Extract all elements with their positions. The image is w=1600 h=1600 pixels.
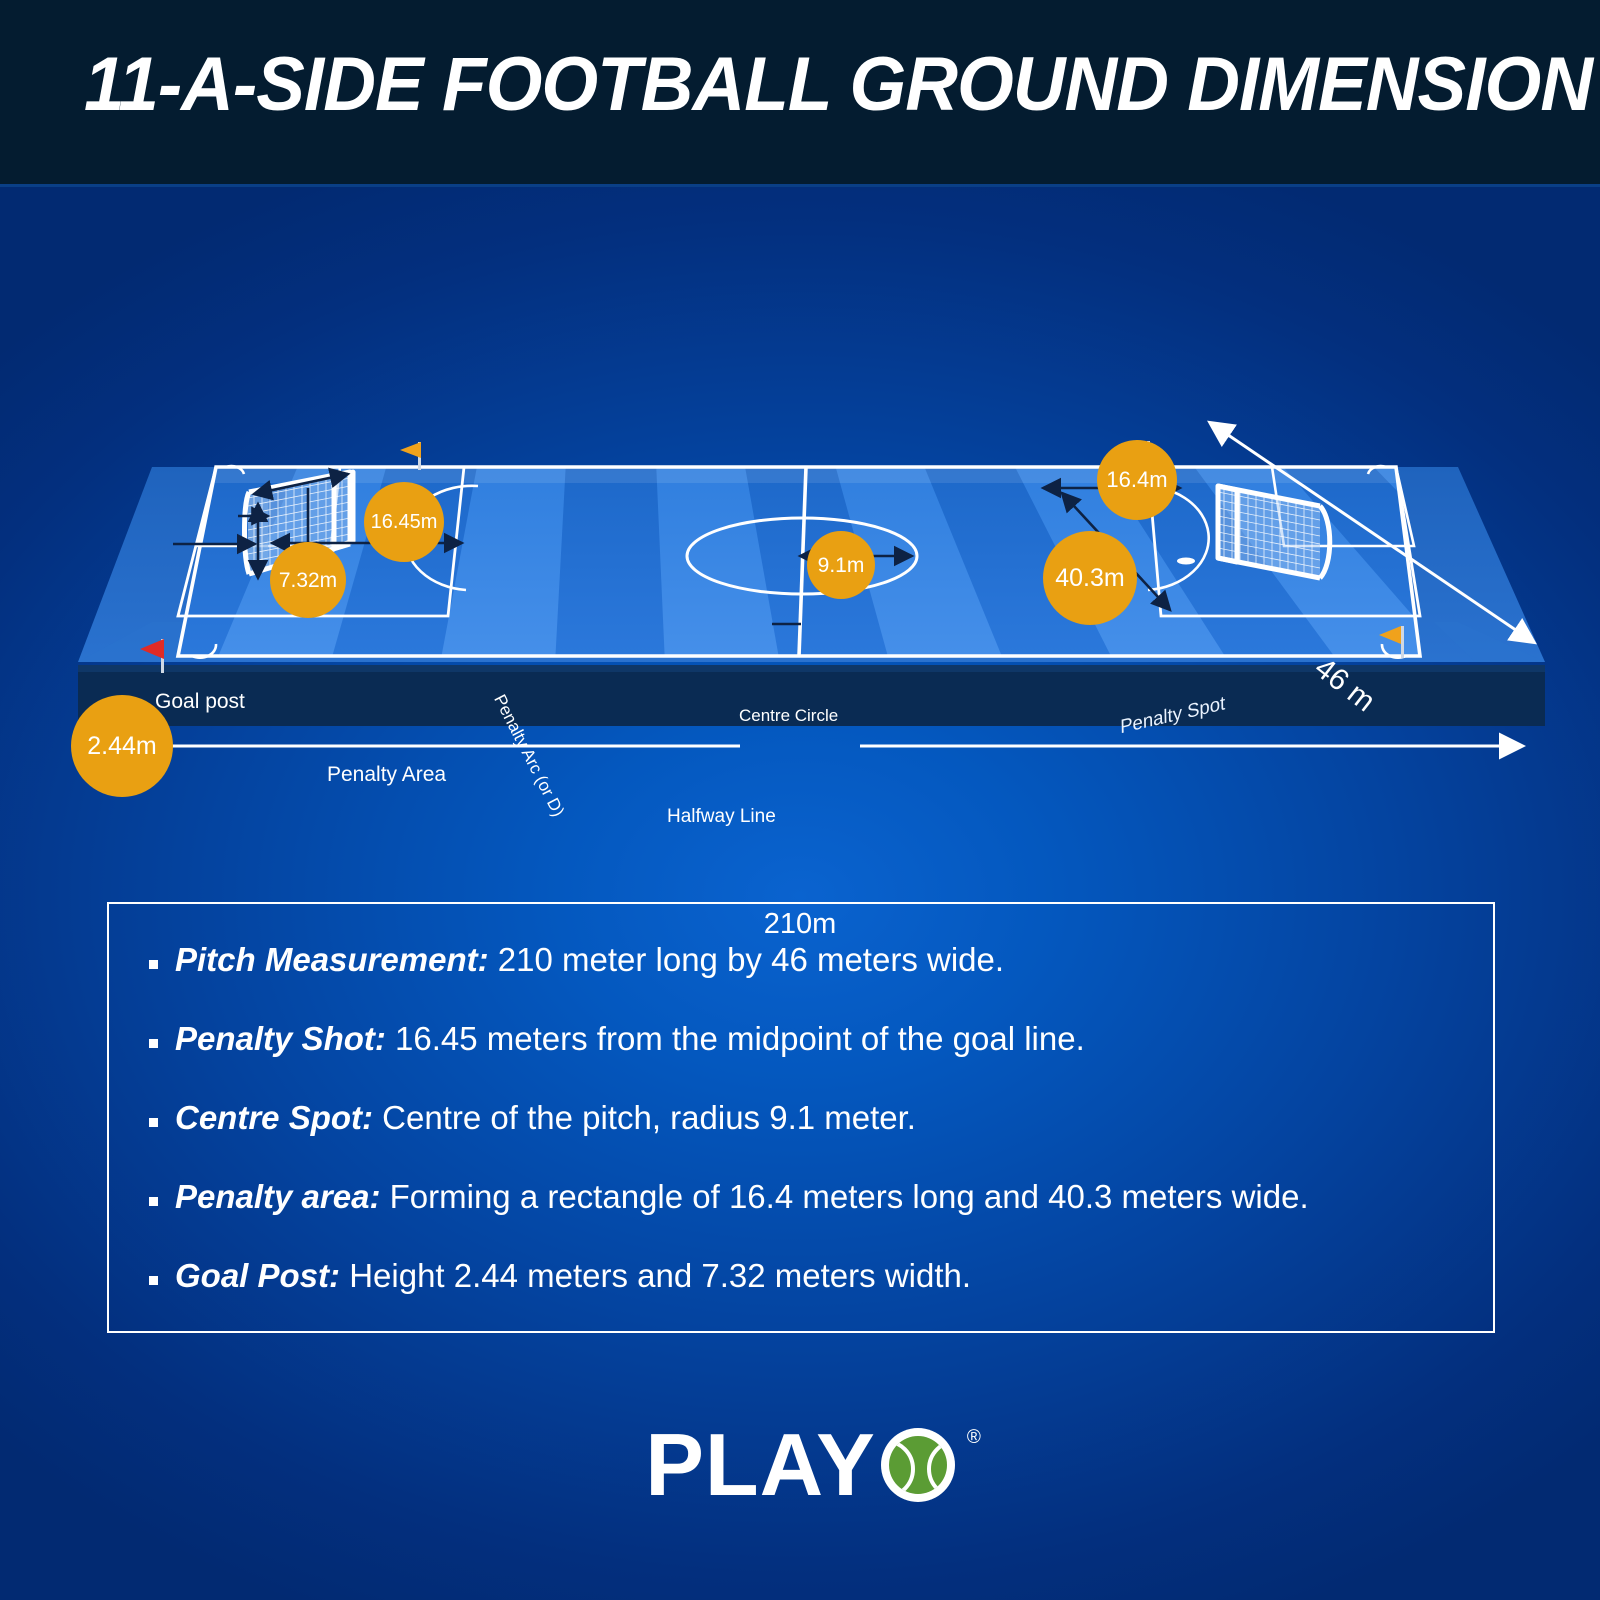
page-title: 11-A-SIDE FOOTBALL GROUND DIMENSION <box>84 42 1592 128</box>
logo-wrap: PLAY ® <box>645 1421 955 1509</box>
bubble-centre-circle-radius[interactable]: 9.1m <box>807 531 875 599</box>
tennis-ball-inner <box>889 1436 947 1494</box>
label-centre-circle: Centre Circle <box>739 705 838 727</box>
fact-text: Goal Post: Height 2.44 meters and 7.32 m… <box>175 1254 971 1298</box>
logo-wordmark: PLAY <box>645 1421 876 1509</box>
fact-body: 210 meter long by 46 meters wide. <box>489 941 1004 978</box>
penalty-spot-mark <box>1177 558 1195 565</box>
bubble-penalty-area-width[interactable]: 40.3m <box>1043 531 1137 625</box>
bubble-penalty-spot-distance[interactable]: 16.45m <box>364 482 444 562</box>
header-bar: 11-A-SIDE FOOTBALL GROUND DIMENSION <box>0 0 1600 186</box>
fact-body: Forming a rectangle of 16.4 meters long … <box>380 1178 1308 1215</box>
fact-label: Penalty area: <box>175 1178 380 1215</box>
bullet-square-icon <box>149 1197 158 1206</box>
fact-label: Goal Post: <box>175 1257 340 1294</box>
fact-text: Penalty Shot: 16.45 meters from the midp… <box>175 1017 1085 1061</box>
brand-logo[interactable]: PLAY ® <box>0 1400 1600 1530</box>
facts-list: Pitch Measurement: 210 meter long by 46 … <box>149 938 1473 1333</box>
fact-label: Pitch Measurement: <box>175 941 489 978</box>
bullet-square-icon <box>149 1118 158 1127</box>
bubble-penalty-area-length[interactable]: 16.4m <box>1097 440 1177 520</box>
bullet-square-icon <box>149 1039 158 1048</box>
facts-panel: Pitch Measurement: 210 meter long by 46 … <box>107 902 1495 1333</box>
bullet-square-icon <box>149 960 158 969</box>
fact-text: Penalty area: Forming a rectangle of 16.… <box>175 1175 1309 1219</box>
bubble-goal-width[interactable]: 7.32m <box>270 542 346 618</box>
fact-body: Height 2.44 meters and 7.32 meters width… <box>340 1257 971 1294</box>
bullet-square-icon <box>149 1276 158 1285</box>
list-item: Penalty Shot: 16.45 meters from the midp… <box>149 1017 1473 1061</box>
pitch-surface <box>150 461 1600 664</box>
list-item: Goal Post: Height 2.44 meters and 7.32 m… <box>149 1254 1473 1298</box>
label-halfway-line: Halfway Line <box>667 806 776 828</box>
pitch-diagram: 2.44m 7.32m 16.45m 9.1m 40.3m 16.4m Goal… <box>0 186 1600 786</box>
list-item: Penalty area: Forming a rectangle of 16.… <box>149 1175 1473 1219</box>
fact-label: Penalty Shot: <box>175 1020 386 1057</box>
fact-label: Centre Spot: <box>175 1099 373 1136</box>
infographic-page: 11-A-SIDE FOOTBALL GROUND DIMENSION <box>0 0 1600 1600</box>
tennis-ball-icon <box>881 1428 955 1502</box>
label-goal-post: Goal post <box>155 691 245 713</box>
registered-trademark-icon: ® <box>967 1427 981 1449</box>
fact-body: Centre of the pitch, radius 9.1 meter. <box>373 1099 916 1136</box>
fact-text: Pitch Measurement: 210 meter long by 46 … <box>175 938 1004 982</box>
fact-body: 16.45 meters from the midpoint of the go… <box>386 1020 1085 1057</box>
list-item: Centre Spot: Centre of the pitch, radius… <box>149 1096 1473 1140</box>
fact-text: Centre Spot: Centre of the pitch, radius… <box>175 1096 916 1140</box>
label-penalty-area: Penalty Area <box>327 764 446 786</box>
list-item: Pitch Measurement: 210 meter long by 46 … <box>149 938 1473 982</box>
